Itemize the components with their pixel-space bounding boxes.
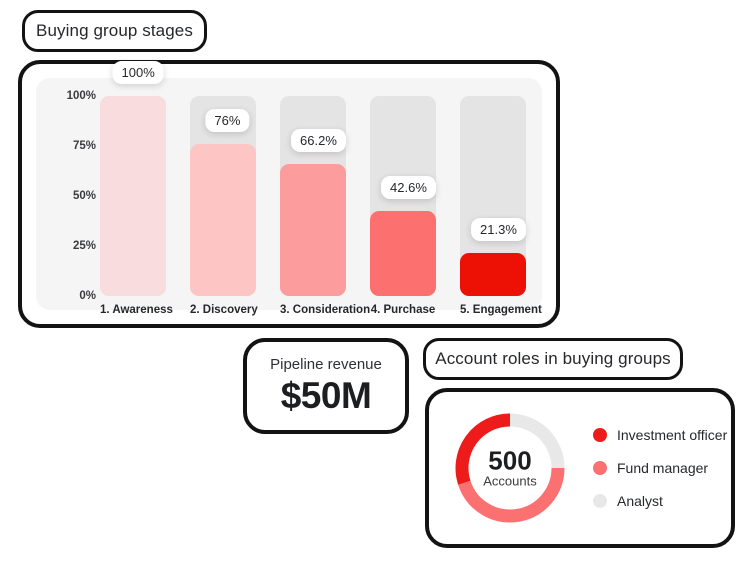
bar-fill — [190, 144, 256, 296]
y-axis-tick: 75% — [73, 140, 96, 152]
bar-column[interactable]: 76% — [190, 96, 256, 296]
bar-value-label: 100% — [113, 61, 164, 84]
roles-title-pill: Account roles in buying groups — [423, 338, 683, 380]
bar-column[interactable]: 21.3% — [460, 96, 526, 296]
donut-legend: Investment officerFund managerAnalyst — [593, 427, 727, 509]
bar-fill — [280, 164, 346, 296]
bar-series: 100%76%66.2%42.6%21.3% — [100, 96, 526, 296]
legend-label: Fund manager — [617, 460, 708, 476]
bar-value-label: 76% — [205, 109, 249, 132]
bar-value-label: 42.6% — [381, 176, 436, 199]
legend-item[interactable]: Analyst — [593, 493, 727, 509]
legend-color-dot — [593, 461, 607, 475]
donut-total-value: 500 — [483, 448, 536, 475]
x-axis-label: 4. Purchase — [370, 304, 436, 316]
bar-fill — [460, 253, 526, 296]
pipeline-revenue-card: Pipeline revenue $50M — [243, 338, 409, 434]
y-axis: 100% 75% 50% 25% 0% — [52, 96, 96, 296]
roles-title-label: Account roles in buying groups — [435, 349, 670, 369]
legend-label: Analyst — [617, 493, 663, 509]
account-roles-card: 500 Accounts Investment officerFund mana… — [425, 388, 735, 548]
pipeline-revenue-value: $50M — [281, 375, 372, 417]
pipeline-revenue-label: Pipeline revenue — [270, 356, 382, 373]
x-axis: 1. Awareness2. Discovery3. Consideration… — [100, 304, 526, 316]
x-axis-label: 1. Awareness — [100, 304, 166, 316]
donut-center-text: 500 Accounts — [483, 448, 536, 489]
donut-total-label: Accounts — [483, 475, 536, 489]
x-axis-label: 3. Consideration — [280, 304, 346, 316]
donut-chart: 500 Accounts — [451, 409, 569, 527]
bar-column[interactable]: 100% — [100, 96, 166, 296]
bar-value-label: 21.3% — [471, 218, 526, 241]
x-axis-label: 2. Discovery — [190, 304, 256, 316]
y-axis-tick: 50% — [73, 190, 96, 202]
legend-item[interactable]: Fund manager — [593, 460, 727, 476]
bar-value-label: 66.2% — [291, 129, 346, 152]
legend-label: Investment officer — [617, 427, 727, 443]
dashboard-collage: Buying group stages 100% 75% 50% 25% 0% … — [0, 0, 750, 563]
bar-fill — [370, 211, 436, 296]
legend-color-dot — [593, 494, 607, 508]
stages-title-label: Buying group stages — [36, 21, 193, 41]
stages-title-pill: Buying group stages — [22, 10, 207, 52]
stages-chart-plot-area: 100% 75% 50% 25% 0% 100%76%66.2%42.6%21.… — [36, 78, 542, 310]
y-axis-tick: 100% — [67, 90, 96, 102]
x-axis-label: 5. Engagement — [460, 304, 526, 316]
y-axis-tick: 0% — [79, 290, 96, 302]
stages-chart-card: 100% 75% 50% 25% 0% 100%76%66.2%42.6%21.… — [18, 60, 560, 328]
legend-color-dot — [593, 428, 607, 442]
bar-column[interactable]: 66.2% — [280, 96, 346, 296]
y-axis-tick: 25% — [73, 240, 96, 252]
bar-fill — [100, 96, 166, 296]
bar-column[interactable]: 42.6% — [370, 96, 436, 296]
legend-item[interactable]: Investment officer — [593, 427, 727, 443]
